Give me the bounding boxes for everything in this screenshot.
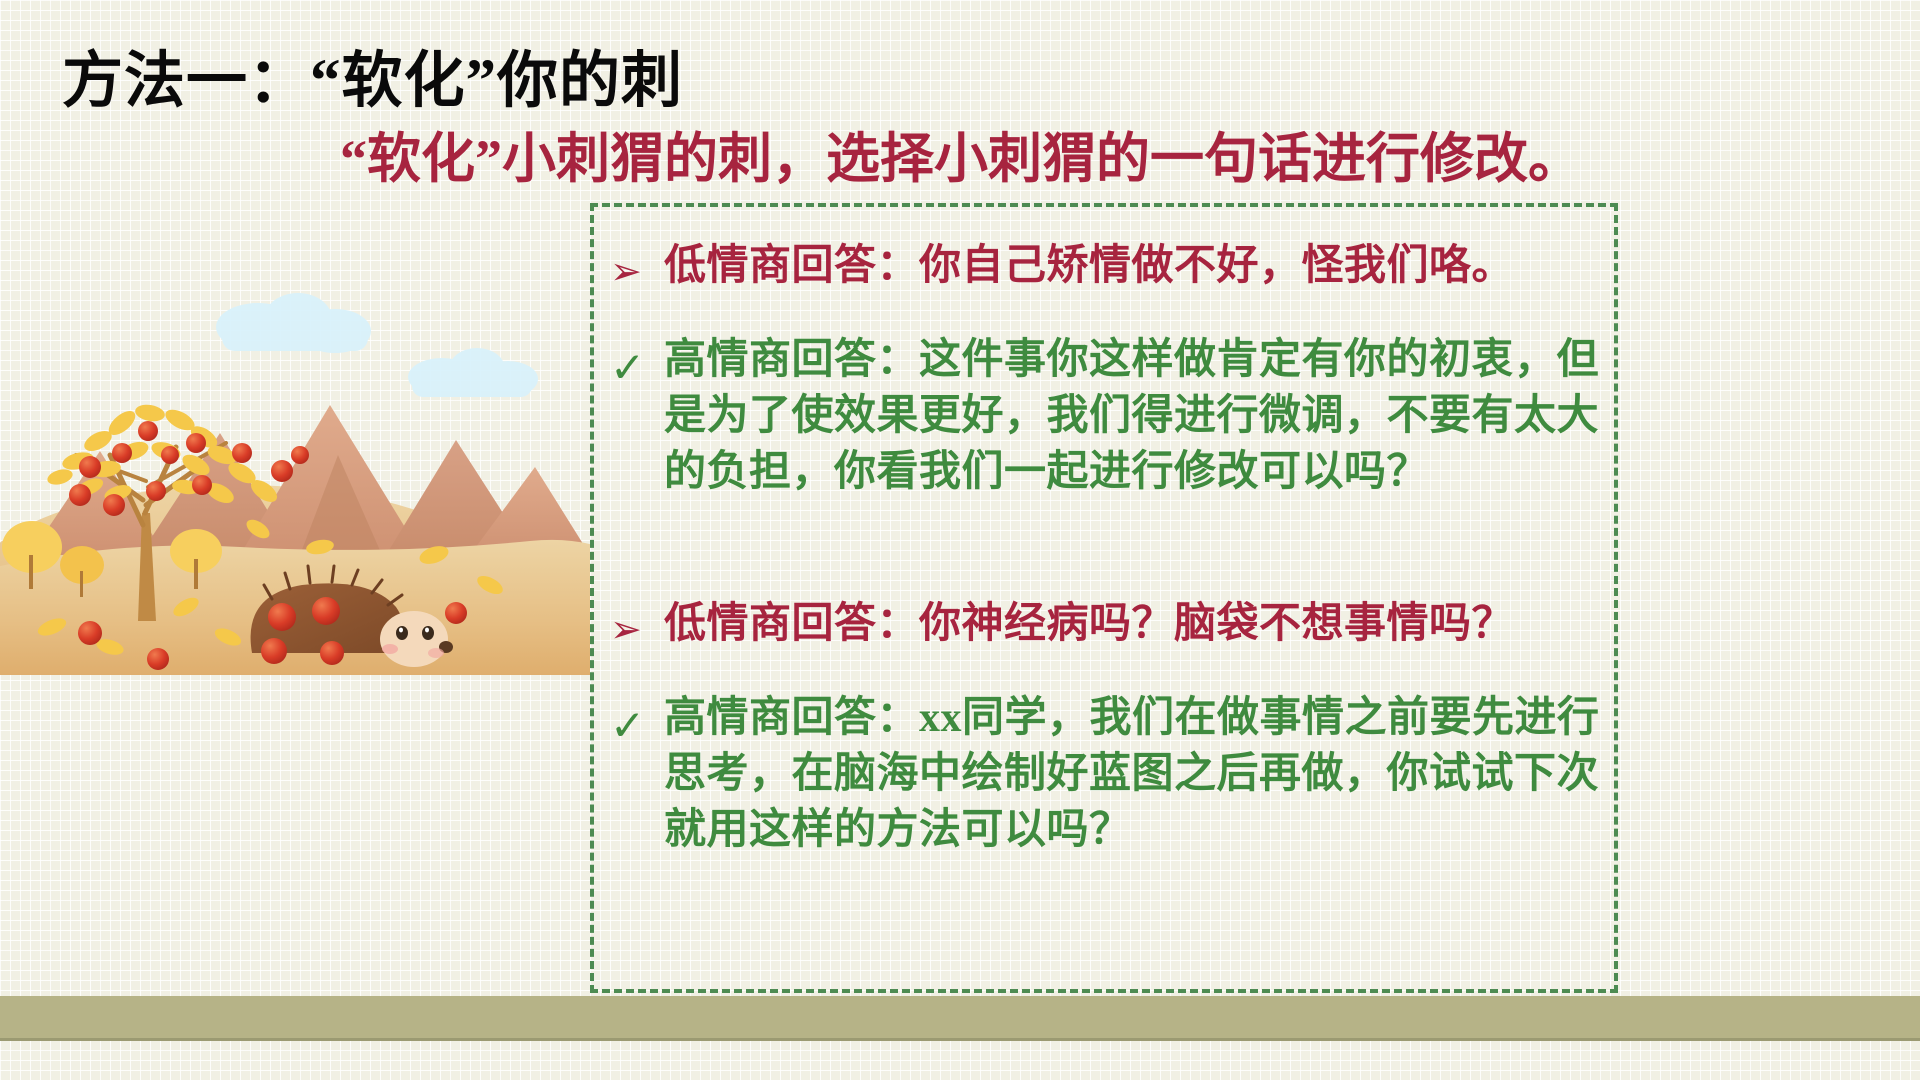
list-item: ✓ 高情商回答：xx同学，我们在做事情之前要先进行思考，在脑海中绘制好蓝图之后再… [610, 691, 1608, 859]
page-title: 方法一：“软化”你的刺 [62, 30, 683, 119]
page-subtitle: “软化”小刺猬的刺，选择小刺猬的一句话进行修改。 [340, 114, 1582, 193]
cloud-icon [216, 293, 371, 353]
list-item-text: 低情商回答：你神经病吗？脑袋不想事情吗？ [664, 597, 1608, 653]
cloud-icon [408, 348, 538, 397]
list-item-text: 高情商回答：xx同学，我们在做事情之前要先进行思考，在脑海中绘制好蓝图之后再做，… [664, 691, 1608, 859]
list-item: ➢ 低情商回答：你自己矫情做不好，怪我们咯。 [610, 239, 1608, 296]
answers-panel: ➢ 低情商回答：你自己矫情做不好，怪我们咯。 ✓ 高情商回答：这件事你这样做肯定… [590, 203, 1618, 993]
arrow-bullet-icon: ➢ [610, 239, 664, 296]
footer-bar [0, 996, 1920, 1041]
check-bullet-icon: ✓ [610, 333, 664, 396]
arrow-bullet-icon: ➢ [610, 597, 664, 654]
list-item-text: 高情商回答：这件事你这样做肯定有你的初衷，但是为了使效果更好，我们得进行微调，不… [664, 333, 1608, 501]
list-item: ✓ 高情商回答：这件事你这样做肯定有你的初衷，但是为了使效果更好，我们得进行微调… [610, 333, 1608, 501]
list-item: ➢ 低情商回答：你神经病吗？脑袋不想事情吗？ [610, 597, 1608, 654]
list-item-text: 低情商回答：你自己矫情做不好，怪我们咯。 [664, 239, 1608, 295]
slide-canvas: 方法一：“软化”你的刺 “软化”小刺猬的刺，选择小刺猬的一句话进行修改。 ➢ 低… [0, 0, 1920, 1080]
check-bullet-icon: ✓ [610, 691, 664, 754]
autumn-hedgehog-illustration [0, 255, 590, 675]
